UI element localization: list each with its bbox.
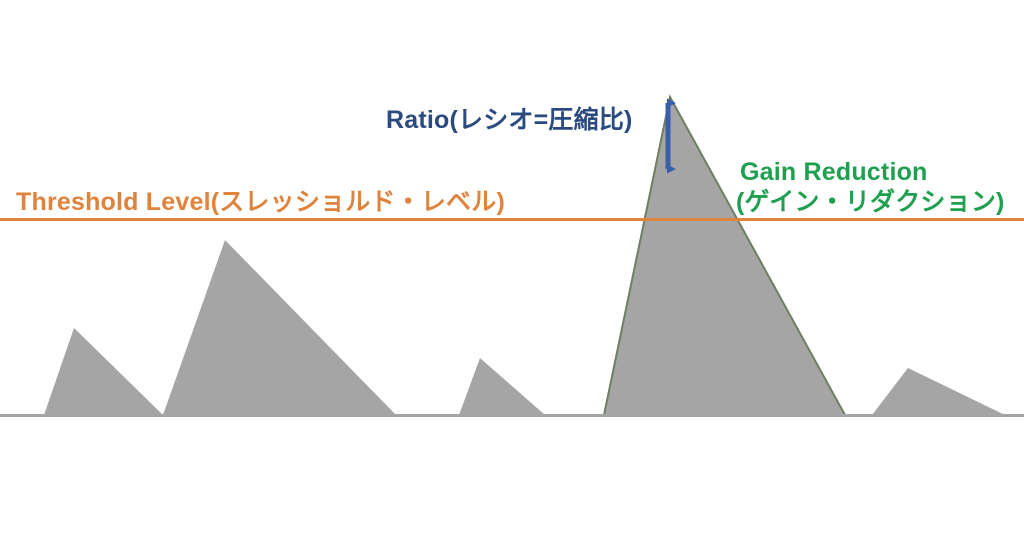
gain-reduction-label-line1: Gain Reduction	[740, 158, 928, 186]
waveform-peak-1	[44, 328, 163, 415]
waveform-peak-3	[459, 358, 545, 415]
gain-reduction-label-line2: (ゲイン・リダクション)	[736, 188, 1005, 218]
waveform-peak-2	[163, 240, 396, 415]
diagram-canvas: Threshold Level(スレッショルド・レベル) Ratio(レシオ=圧…	[0, 0, 1024, 559]
waveform-peak-highlighted	[604, 97, 845, 415]
waveform-peak-5	[872, 368, 1005, 415]
threshold-level-label: Threshold Level(スレッショルド・レベル)	[16, 188, 505, 218]
ratio-label: Ratio(レシオ=圧縮比)	[386, 106, 633, 136]
gain-reduction-label: Gain Reduction (ゲイン・リダクション)	[740, 158, 1005, 217]
waveform-diagram	[0, 0, 1024, 559]
